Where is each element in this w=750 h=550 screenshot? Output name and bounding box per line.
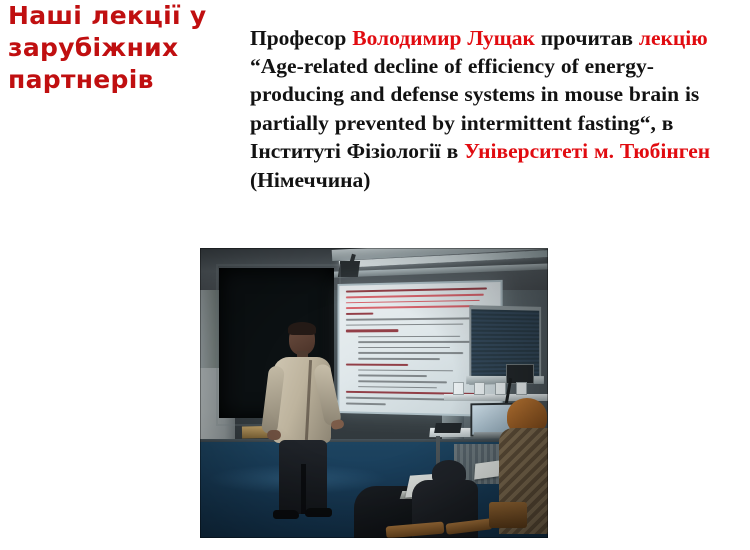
projected-slide-line [358,380,447,383]
projected-slide-line [358,352,464,354]
presenter-right-hand [330,419,345,431]
presenter-leg-gap [301,464,306,514]
highlight-university: Університеті м. Тюбінген [464,139,710,163]
lecture-hall-photograph [200,248,548,538]
paragraph-segment-country: (Німеччина) [250,168,370,192]
projected-slide-line [345,313,373,316]
presenter-right-shoe [305,508,332,517]
projected-slide-line [358,386,437,389]
presenter-left-hand [267,430,281,440]
presenter-left-shoe [273,510,299,519]
photo-scene [200,248,548,538]
projected-slide-line [345,330,398,333]
paragraph-segment-professor: Професор [250,26,352,50]
highlight-lecturer-name: Володимир Лущак [352,26,535,50]
projected-slide-line [345,294,483,298]
projected-slide-line [358,341,470,343]
presenter-hair [288,322,316,335]
av-control-box [434,423,462,433]
projected-slide-line [358,335,460,337]
wall-socket [516,382,527,395]
projected-slide-line [345,363,407,366]
projected-slide-line [345,317,483,320]
projected-slide-line [345,300,480,304]
projected-slide-line [358,375,427,377]
lecture-announcement-paragraph: Професор Володимир Лущак прочитав лекцію… [250,24,744,194]
projected-slide-line [358,358,441,360]
highlight-lecture-word: лекцію [639,26,708,50]
page-title: Наші лекції у зарубіжних партнерів [8,0,233,96]
projected-slide-line [345,306,473,310]
projected-slide-line [345,402,385,404]
paragraph-segment-read: прочитав [535,26,639,50]
projected-slide-line [358,347,450,349]
wooden-chair-back [489,502,527,528]
projected-slide-line [358,369,454,371]
wall-socket [495,382,506,395]
projected-slide-line [345,287,486,292]
wall-socket [453,382,464,395]
presenter [261,324,343,520]
projected-slide-line [345,323,463,326]
wall-socket [474,382,485,395]
